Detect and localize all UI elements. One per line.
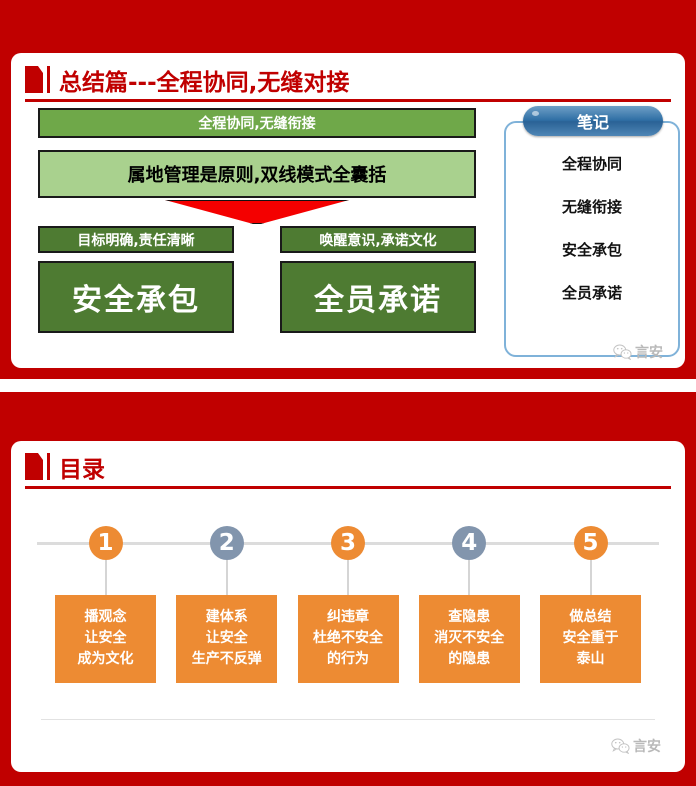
toc-box-1[interactable]: 播观念 让安全 成为文化 <box>55 595 156 683</box>
toc-number-badge-2: 2 <box>210 526 244 560</box>
toc-item-4[interactable]: 4 查隐患 消灭不安全 的隐患 <box>419 497 520 683</box>
summary-diagram: 全程协同,无缝衔接 属地管理是原则,双线模式全囊括 目标明确,责任清晰 安全承包… <box>38 108 476 333</box>
toc-line-1: 纠违章 <box>300 607 397 628</box>
toc-box-2[interactable]: 建体系 让安全 生产不反弹 <box>176 595 277 683</box>
note-item: 安全承包 <box>506 239 678 260</box>
toc-stem <box>590 560 592 595</box>
toc-item-3[interactable]: 3 纠违章 杜绝不安全 的行为 <box>298 497 399 683</box>
summary-card: 总结篇---全程协同,无缝对接 全程协同,无缝衔接 属地管理是原则,双线模式全囊… <box>11 53 685 368</box>
toc-item-5[interactable]: 5 做总结 安全重于 泰山 <box>540 497 641 683</box>
toc-item-list: 1 播观念 让安全 成为文化 2 建体系 让安全 生产不反弹 <box>55 497 641 683</box>
summary-banner: 全程协同,无缝衔接 <box>38 108 476 138</box>
toc-line-3: 泰山 <box>542 649 639 670</box>
summary-subtitle-2: 唤醒意识,承诺文化 <box>280 226 476 253</box>
summary-heading: 总结篇---全程协同,无缝对接 <box>25 60 671 102</box>
watermark-label: 言安 <box>633 736 661 756</box>
toc-number-badge-5: 5 <box>574 526 608 560</box>
flag-bar-icon <box>47 66 50 93</box>
toc-stem <box>226 560 228 595</box>
summary-column-1: 目标明确,责任清晰 安全承包 <box>38 226 234 333</box>
page-title: 目录 <box>59 450 105 484</box>
summary-main-2: 全员承诺 <box>280 261 476 333</box>
toc-line-1: 查隐患 <box>421 607 518 628</box>
toc-body: 1 播观念 让安全 成为文化 2 建体系 让安全 生产不反弹 <box>11 497 685 772</box>
toc-line-2: 安全重于 <box>542 628 639 649</box>
toc-number-badge-1: 1 <box>89 526 123 560</box>
toc-item-2[interactable]: 2 建体系 让安全 生产不反弹 <box>176 497 277 683</box>
toc-box-3[interactable]: 纠违章 杜绝不安全 的行为 <box>298 595 399 683</box>
notes-pill-label: 笔记 <box>523 106 663 136</box>
flag-bar-icon <box>47 453 50 480</box>
toc-line-2: 杜绝不安全 <box>300 628 397 649</box>
summary-principle: 属地管理是原则,双线模式全囊括 <box>38 150 476 198</box>
toc-stem <box>105 560 107 595</box>
notes-list: 全程协同 无缝衔接 安全承包 全员承诺 <box>506 153 678 325</box>
toc-number-badge-4: 4 <box>452 526 486 560</box>
toc-line-3: 的行为 <box>300 649 397 670</box>
summary-column-2: 唤醒意识,承诺文化 全员承诺 <box>280 226 476 333</box>
watermark-label: 言安 <box>635 342 663 362</box>
flag-icon <box>25 453 43 480</box>
toc-box-4[interactable]: 查隐患 消灭不安全 的隐患 <box>419 595 520 683</box>
toc-number-badge-3: 3 <box>331 526 365 560</box>
slide-summary: 总结篇---全程协同,无缝对接 全程协同,无缝衔接 属地管理是原则,双线模式全囊… <box>0 0 696 379</box>
wechat-icon <box>611 738 630 754</box>
toc-stem <box>347 560 349 595</box>
toc-divider <box>41 719 655 720</box>
toc-heading: 目录 <box>25 447 671 489</box>
toc-card: 目录 1 播观念 让安全 成为文化 2 建体系 <box>11 441 685 772</box>
toc-item-1[interactable]: 1 播观念 让安全 成为文化 <box>55 497 156 683</box>
toc-line-3: 的隐患 <box>421 649 518 670</box>
slide-table-of-contents: 目录 1 播观念 让安全 成为文化 2 建体系 <box>0 392 696 786</box>
watermark: 言安 <box>611 736 661 756</box>
note-item: 无缝衔接 <box>506 196 678 217</box>
note-item: 全员承诺 <box>506 282 678 303</box>
summary-main-1: 安全承包 <box>38 261 234 333</box>
toc-line-1: 播观念 <box>57 607 154 628</box>
watermark: 言安 <box>613 342 663 362</box>
summary-subtitle-row: 目标明确,责任清晰 安全承包 唤醒意识,承诺文化 全员承诺 <box>38 226 476 333</box>
toc-line-1: 建体系 <box>178 607 275 628</box>
toc-line-2: 消灭不安全 <box>421 628 518 649</box>
toc-line-2: 让安全 <box>178 628 275 649</box>
arrow-container <box>38 200 476 226</box>
toc-line-2: 让安全 <box>57 628 154 649</box>
toc-line-3: 生产不反弹 <box>178 649 275 670</box>
summary-subtitle-1: 目标明确,责任清晰 <box>38 226 234 253</box>
note-item: 全程协同 <box>506 153 678 174</box>
toc-box-5[interactable]: 做总结 安全重于 泰山 <box>540 595 641 683</box>
toc-line-1: 做总结 <box>542 607 639 628</box>
flag-icon <box>25 66 43 93</box>
toc-line-3: 成为文化 <box>57 649 154 670</box>
wechat-icon <box>613 344 632 360</box>
toc-stem <box>468 560 470 595</box>
page-title: 总结篇---全程协同,无缝对接 <box>59 63 349 97</box>
down-arrow-icon <box>165 200 349 224</box>
